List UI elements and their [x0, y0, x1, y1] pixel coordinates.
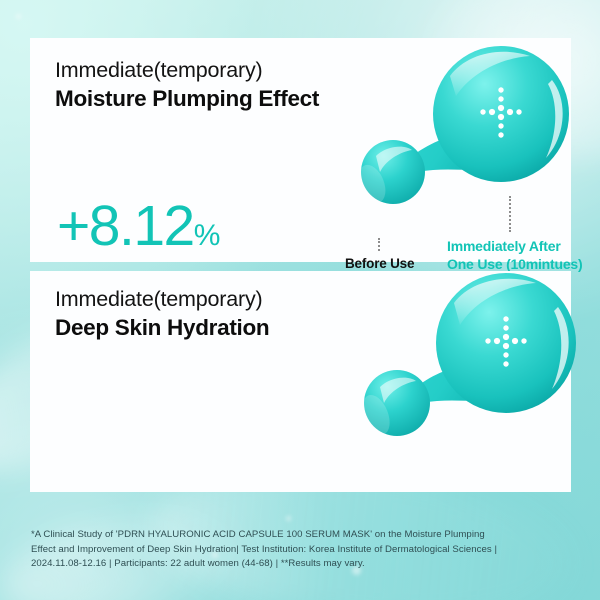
droplet-illustration — [338, 271, 578, 476]
plus-dots-icon — [480, 87, 521, 137]
droplet-after — [433, 46, 569, 182]
card-heading-line1: Immediate(temporary) — [55, 56, 319, 84]
leader-line-after — [509, 196, 511, 232]
droplet-after-rimlight — [546, 80, 563, 158]
caption-before-use: Before Use — [345, 256, 414, 271]
card-heading-line1: Immediate(temporary) — [55, 285, 269, 313]
card-heading: Immediate(temporary) Moisture Plumping E… — [55, 56, 319, 113]
stat-value: +8.12% — [57, 198, 220, 255]
droplet-bridge — [416, 365, 482, 403]
plus-dots-icon — [485, 316, 526, 366]
footnote-line-3: 2024.11.08-12.16 | Participants: 22 adul… — [31, 557, 571, 572]
droplet-after-rimlight — [552, 307, 569, 389]
droplet-before-sheen — [357, 391, 395, 439]
result-card-deep-skin-hydration: Immediate(temporary) Deep Skin Hydration… — [30, 271, 571, 492]
clinical-study-footnote: *A Clinical Study of 'PDRN HYALURONIC AC… — [31, 528, 571, 572]
footnote-line-1: *A Clinical Study of 'PDRN HYALURONIC AC… — [31, 528, 571, 543]
droplet-before-sheen — [353, 161, 390, 207]
stat-number: +8.12 — [57, 194, 194, 258]
card-heading-line2: Moisture Plumping Effect — [55, 84, 319, 113]
droplet-after-gloss — [450, 52, 530, 96]
card-heading: Immediate(temporary) Deep Skin Hydration — [55, 285, 269, 342]
droplet-after-gloss — [454, 279, 536, 325]
droplet-illustration — [338, 44, 571, 244]
bubble-icon — [16, 14, 21, 19]
result-card-moisture-plumping: Immediate(temporary) Moisture Plumping E… — [30, 38, 571, 262]
footnote-line-2: Effect and Improvement of Deep Skin Hydr… — [31, 543, 571, 558]
card-heading-line2: Deep Skin Hydration — [55, 313, 269, 342]
droplet-before-highlight — [376, 147, 412, 172]
droplet-before-highlight — [380, 378, 416, 403]
bubble-icon — [286, 516, 291, 521]
droplet-after — [436, 273, 576, 413]
leader-line-before — [378, 238, 380, 251]
droplet-before — [361, 140, 425, 204]
droplet-bridge — [412, 134, 478, 172]
droplet-before — [364, 370, 430, 436]
caption-after-line1: Immediately After — [447, 238, 582, 256]
promotional-poster: Immediate(temporary) Moisture Plumping E… — [0, 0, 600, 600]
caption-after-use: Immediately After One Use (10mintues) — [447, 238, 582, 273]
stat-unit: % — [194, 219, 220, 252]
